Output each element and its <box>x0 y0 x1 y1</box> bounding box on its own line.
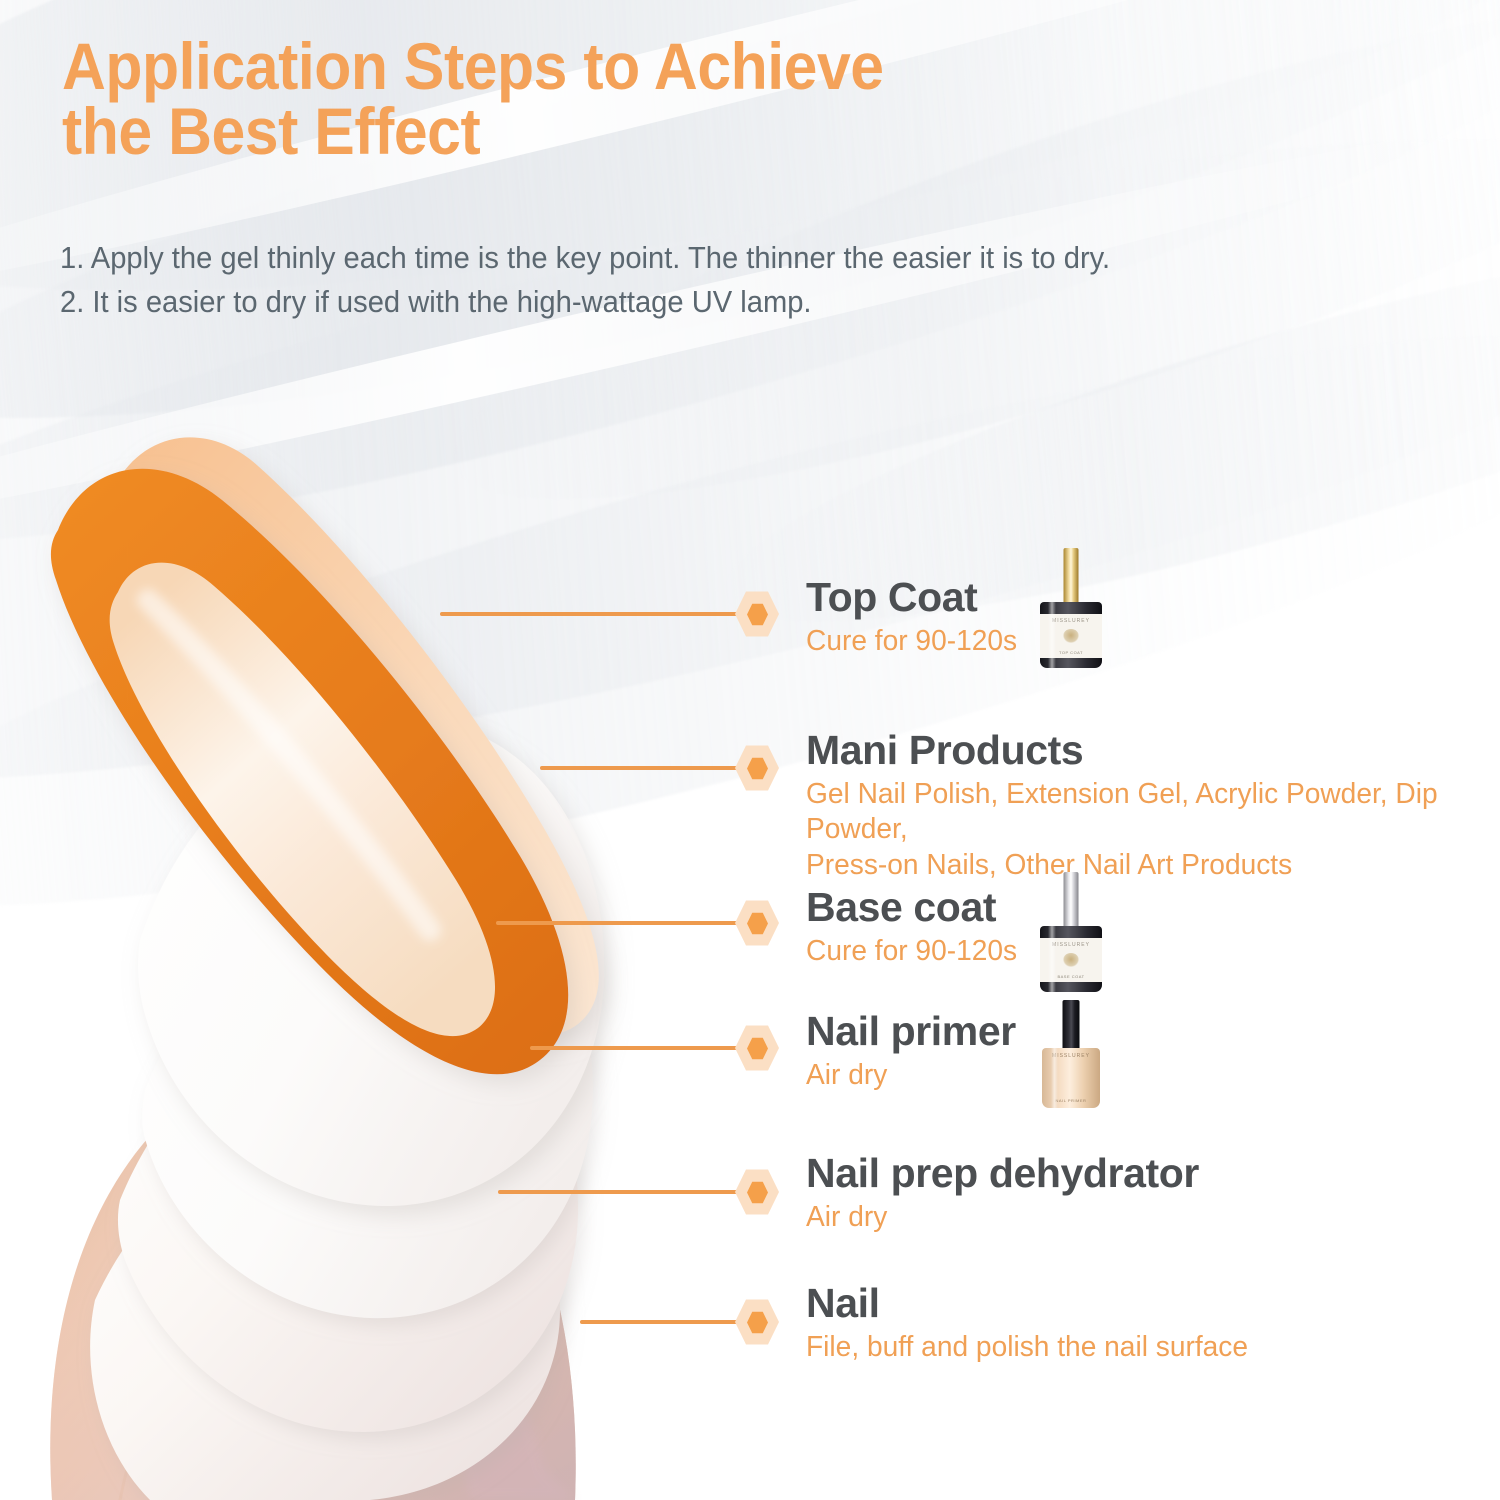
leader-line-top-coat <box>440 612 742 616</box>
callout-subtitle: Cure for 90-120s <box>806 624 1017 659</box>
bottle-cap-gold <box>1064 548 1079 606</box>
callout-title: Nail prep dehydrator <box>806 1152 1199 1195</box>
bottle-shine <box>1048 602 1056 668</box>
bottle-body: MISSLUREY BASE COAT <box>1040 926 1102 992</box>
bottle-emblem-icon <box>1063 629 1079 643</box>
callout-title: Base coat <box>806 886 1024 929</box>
callout-mani-products[interactable]: Mani Products Gel Nail Polish, Extension… <box>806 729 1500 883</box>
callout-nail-primer[interactable]: Nail primer Air dry <box>806 1010 1016 1093</box>
callout-subtitle: File, buff and polish the nail surface <box>806 1330 1248 1365</box>
callout-title: Nail primer <box>806 1010 1016 1053</box>
hex-marker-nail-primer[interactable] <box>735 1024 779 1072</box>
bottle-shine <box>1048 926 1056 992</box>
callout-subtitle: Air dry <box>806 1200 1187 1235</box>
callout-nail[interactable]: Nail File, buff and polish the nail surf… <box>806 1282 1262 1365</box>
callout-subtitle: Gel Nail Polish, Extension Gel, Acrylic … <box>806 777 1479 883</box>
bottle-body: MISSLUREY NAIL PRIMER <box>1042 1048 1100 1108</box>
leader-line-nail-prep <box>498 1190 742 1194</box>
hex-marker-nail[interactable] <box>735 1298 779 1346</box>
infographic-root: Application Steps to Achieve the Best Ef… <box>0 0 1500 1500</box>
bottle-cap-black <box>1063 1000 1080 1052</box>
callout-title: Nail <box>806 1282 1262 1325</box>
leader-line-mani-products <box>540 766 742 770</box>
leader-line-nail <box>580 1320 742 1324</box>
hex-marker-mani-products[interactable] <box>735 744 779 792</box>
nail-primer-bottle: MISSLUREY NAIL PRIMER <box>1042 1000 1100 1108</box>
callout-base-coat[interactable]: Base coat Cure for 90-120s <box>806 886 1024 969</box>
page-title: Application Steps to Achieve the Best Ef… <box>62 34 1148 165</box>
hex-marker-base-coat[interactable] <box>735 899 779 947</box>
callout-subtitle: Cure for 90-120s <box>806 934 1017 969</box>
callout-subtitle: Air dry <box>806 1058 1010 1093</box>
top-coat-bottle: MISSLUREY TOP COAT <box>1040 548 1102 668</box>
hex-marker-nail-prep[interactable] <box>735 1168 779 1216</box>
bottle-shine <box>1051 1048 1058 1108</box>
callout-title: Mani Products <box>806 729 1500 772</box>
bottle-emblem-icon <box>1063 953 1079 967</box>
base-coat-bottle: MISSLUREY BASE COAT <box>1040 872 1102 992</box>
bottle-body: MISSLUREY TOP COAT <box>1040 602 1102 668</box>
bottle-cap-silver <box>1064 872 1079 930</box>
leader-line-nail-primer <box>530 1046 742 1050</box>
callout-title: Top Coat <box>806 576 1024 619</box>
hex-marker-top-coat[interactable] <box>735 590 779 638</box>
callout-nail-prep-dehydrator[interactable]: Nail prep dehydrator Air dry <box>806 1152 1199 1235</box>
callout-top-coat[interactable]: Top Coat Cure for 90-120s <box>806 576 1024 659</box>
leader-line-base-coat <box>496 921 742 925</box>
